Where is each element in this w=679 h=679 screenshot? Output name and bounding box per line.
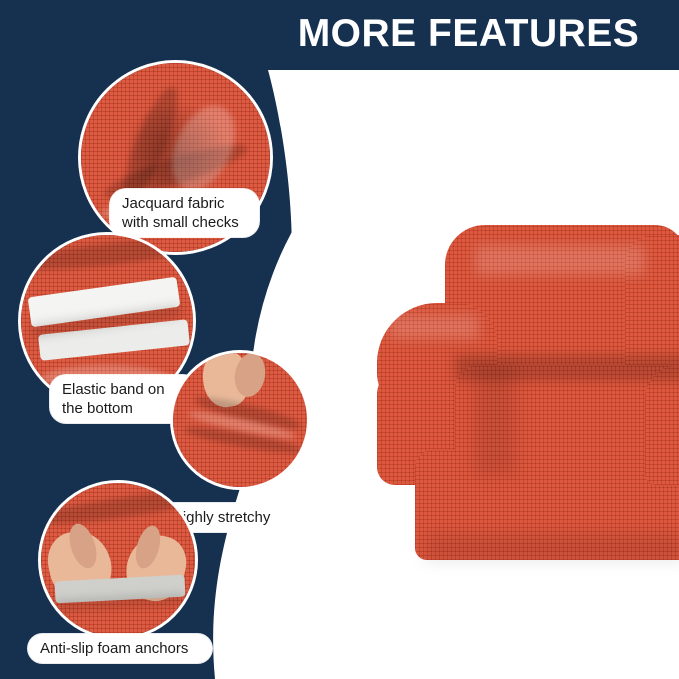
sofa-highlight-back bbox=[475, 245, 645, 275]
feature-infographic: MORE FEATURES Jacquard fabric with small… bbox=[0, 0, 679, 679]
feature-photo-stretchy bbox=[170, 350, 310, 490]
sofa-shadow-bottom bbox=[425, 535, 679, 561]
sofa-shadow-arm bbox=[475, 365, 515, 475]
feature-label-jacquard: Jacquard fabric with small checks bbox=[110, 189, 259, 237]
product-image bbox=[355, 215, 679, 575]
feature-label-foam-anchors: Anti-slip foam anchors bbox=[28, 634, 212, 663]
feature-photo-foam-anchors bbox=[38, 480, 198, 640]
sofa-arm-right bbox=[645, 365, 679, 485]
page-title: MORE FEATURES bbox=[298, 12, 640, 56]
title-bar: MORE FEATURES bbox=[258, 0, 679, 68]
sofa-highlight-arm bbox=[389, 315, 479, 339]
